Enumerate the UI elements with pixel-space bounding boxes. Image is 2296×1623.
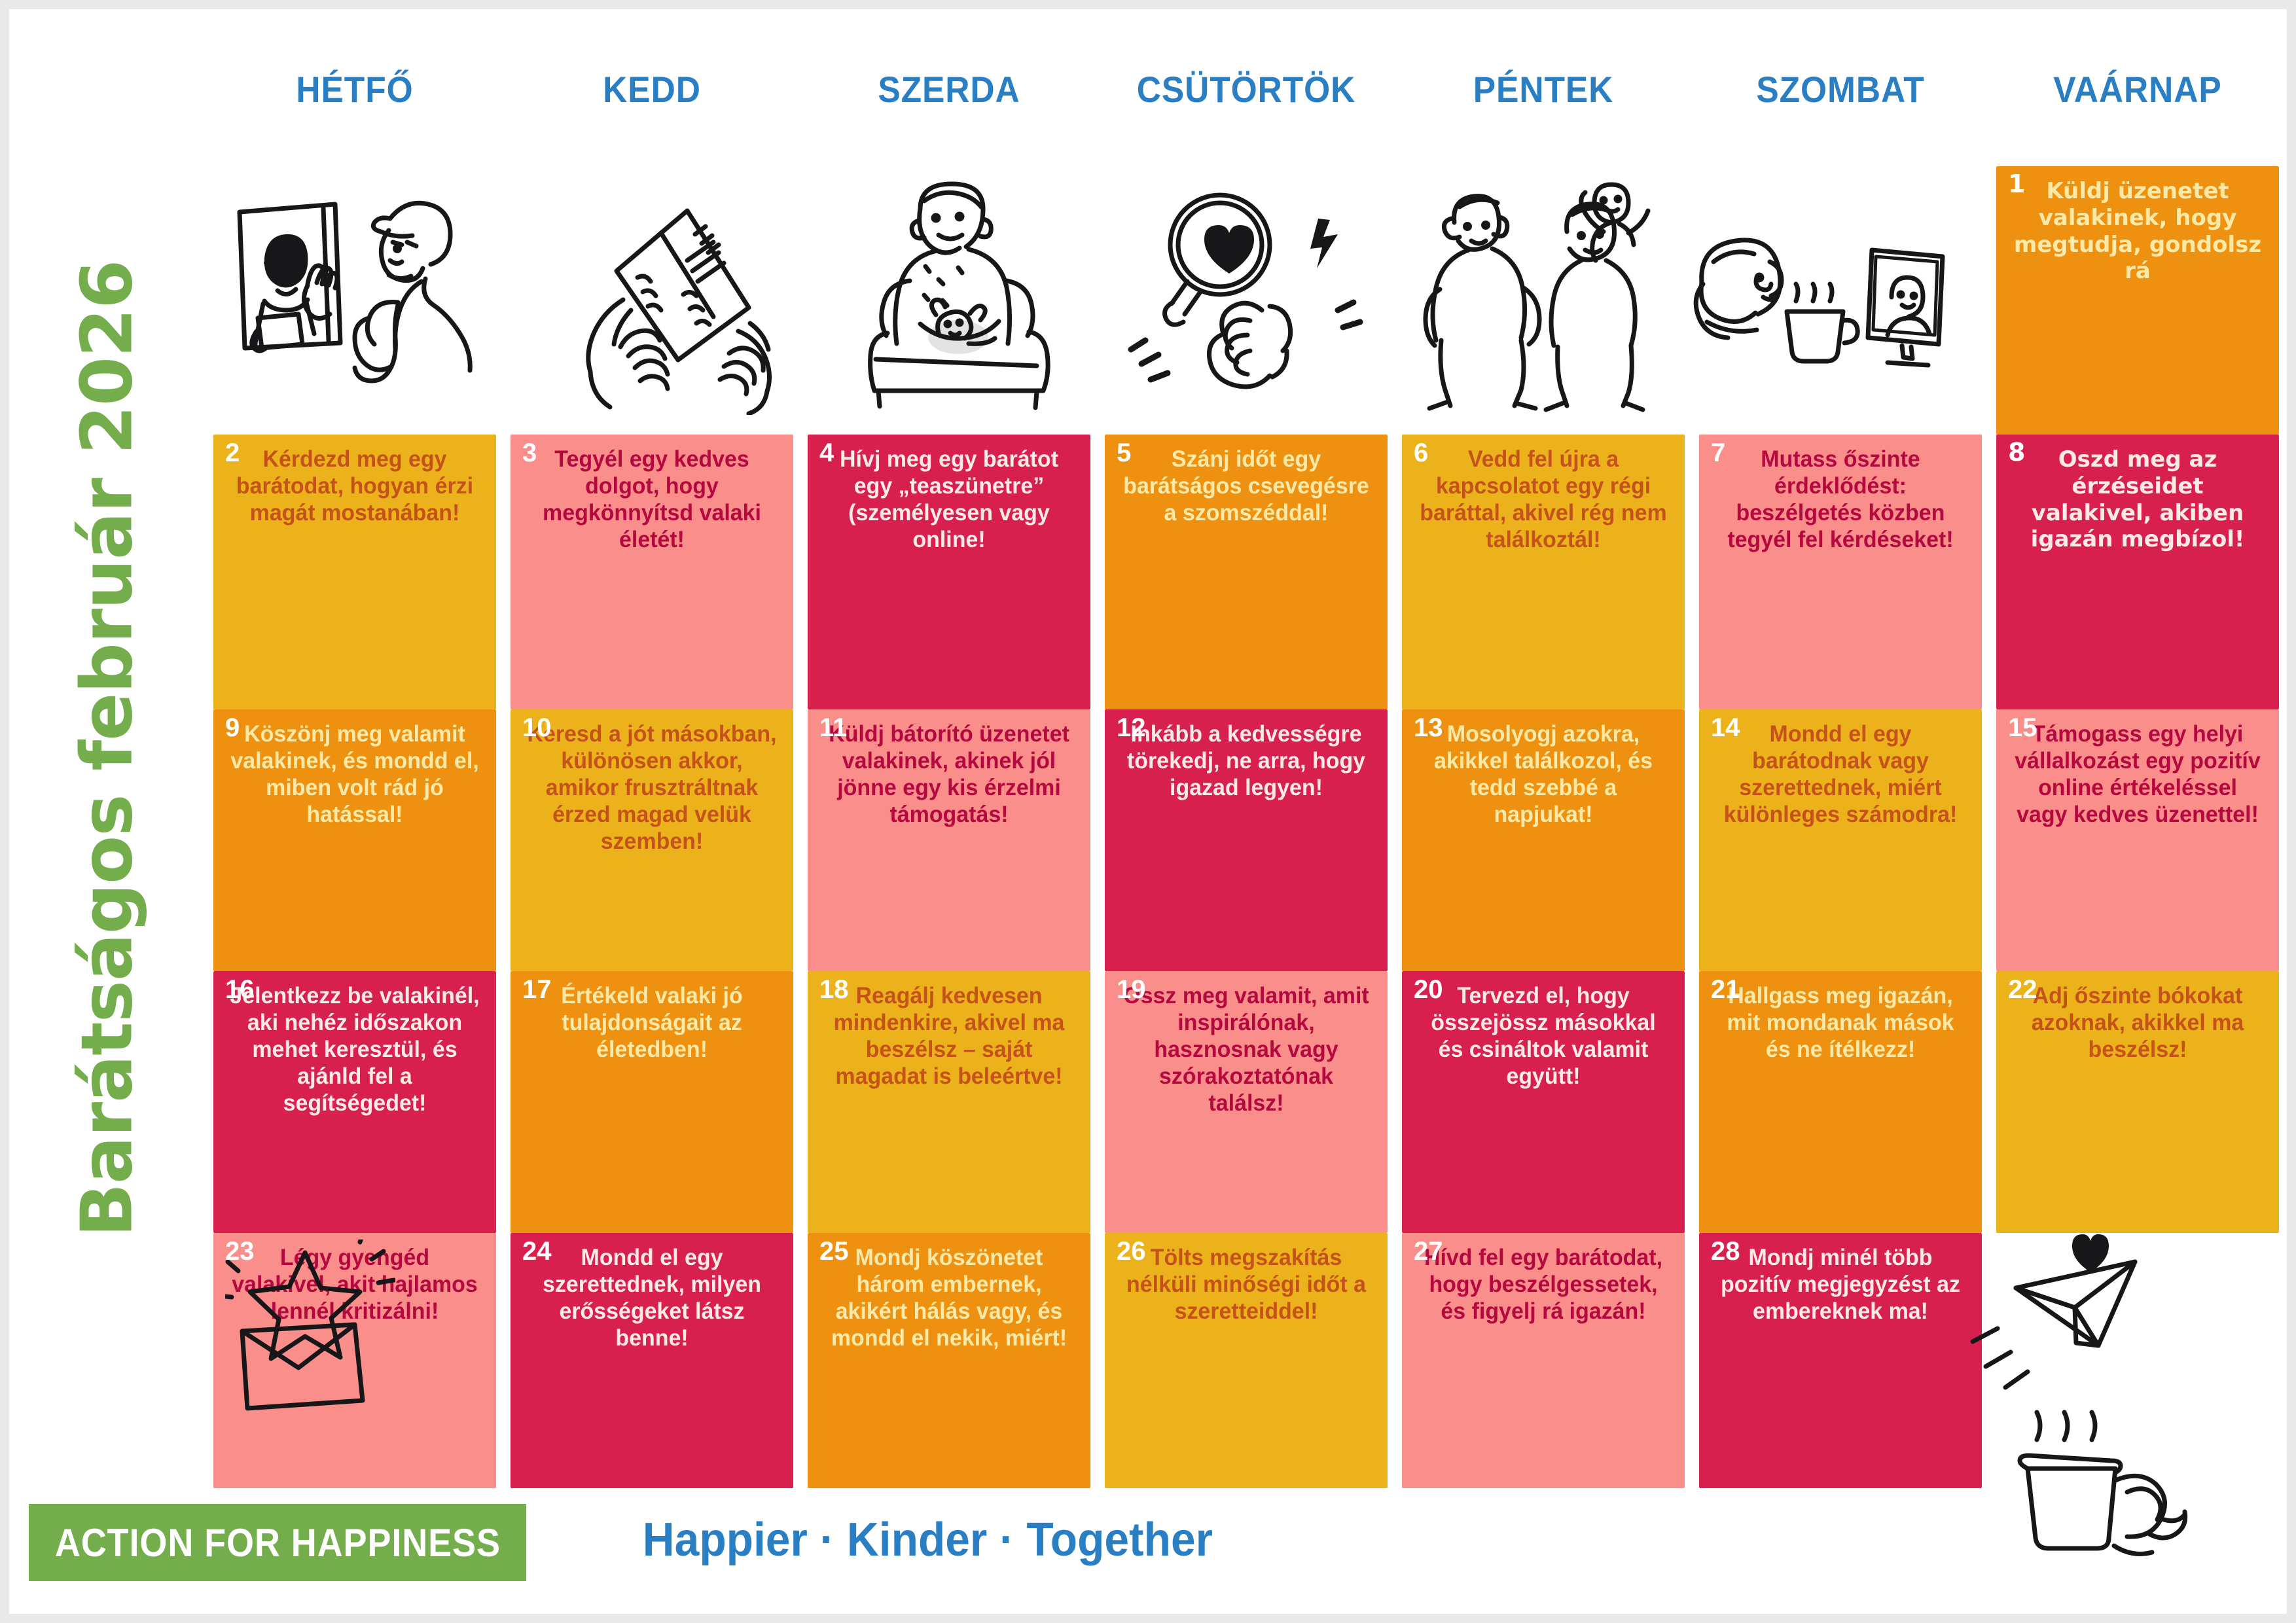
day-action-text: Hallgass meg igazán, mit mondanak mások … <box>1713 983 1967 1063</box>
man-in-armchair-with-dog-illustration <box>808 166 1090 435</box>
day-header-sunday: VAÁRNAP <box>2007 68 2267 111</box>
calendar-day-cell[interactable]: 17Értékeld valaki jó tulajdonságait az é… <box>511 971 793 1233</box>
day-action-text: Küldj üzenetet valakinek, hogy megtudja,… <box>2007 178 2269 285</box>
calendar-day-cell[interactable]: 9Köszönj meg valamit valakinek, és mondd… <box>213 709 496 971</box>
day-action-text: Tölts megszakítás nélküli minőségi időt … <box>1119 1245 1373 1325</box>
day-number: 27 <box>1414 1238 1443 1264</box>
day-action-text: Ossz meg valamit, amit inspirálónak, has… <box>1119 983 1373 1117</box>
day-action-text: Hívj meg egy barátot egy „teaszünetre” (… <box>822 446 1076 554</box>
calendar-day-cell[interactable]: 2Kérdezd meg egy barátodat, hogyan érzi … <box>213 435 496 709</box>
video-call-with-tea-illustration <box>1699 166 1982 435</box>
day-action-text: Mosolyogj azokra, akikkel találkozol, és… <box>1416 721 1670 829</box>
day-action-text: Hívd fel egy barátodat, hogy beszélgesse… <box>1416 1245 1670 1325</box>
page-title: Barátságos február 2026 <box>67 260 149 1238</box>
day-header-friday: PÉNTEK <box>1413 68 1673 111</box>
family-walking-illustration <box>1402 166 1685 435</box>
calendar-day-cell[interactable]: 5Szánj időt egy barátságos csevegésre a … <box>1105 435 1388 709</box>
day-number: 14 <box>1711 715 1740 741</box>
day-header-saturday: SZOMBAT <box>1710 68 1970 111</box>
day-number: 25 <box>819 1238 849 1264</box>
day-action-text: Légy gyengéd valakivel, akit hajlamos le… <box>228 1245 482 1325</box>
calendar-day-cell[interactable]: 15Támogass egy helyi vállalkozást egy po… <box>1996 709 2279 971</box>
day-action-text: Inkább a kedvességre törekedj, ne arra, … <box>1119 721 1373 802</box>
calendar-day-cell[interactable]: 22Adj őszinte bókokat azoknak, akikkel m… <box>1996 971 2279 1233</box>
calendar-poster: Barátságos február 2026 HÉTFŐ KEDD SZERD… <box>9 9 2287 1614</box>
paper-plane-with-heart-illustration <box>1996 1233 2279 1488</box>
calendar-day-cell[interactable]: 23Légy gyengéd valakivel, akit hajlamos … <box>213 1233 496 1488</box>
calendar-week-row: 23Légy gyengéd valakivel, akit hajlamos … <box>206 1233 2287 1488</box>
calendar-day-cell[interactable]: 24Mondd el egy szerettednek, milyen erős… <box>511 1233 793 1488</box>
calendar-day-cell[interactable]: 10Keresd a jót másokban, különösen akkor… <box>511 709 793 971</box>
calendar-day-cell[interactable]: 18Reagálj kedvesen mindenkire, akivel ma… <box>808 971 1090 1233</box>
day-number: 22 <box>2008 976 2037 1003</box>
tagline: Happier · Kinder · Together <box>643 1513 1213 1567</box>
day-action-text: Vedd fel újra a kapcsolatot egy régi bar… <box>1416 446 1670 554</box>
day-number: 5 <box>1117 440 1131 466</box>
day-header-row: HÉTFŐ KEDD SZERDA CSÜTÖRTÖK PÉNTEK SZOMB… <box>206 68 2287 111</box>
calendar-day-cell[interactable]: 20Tervezd el, hogy összejössz másokkal é… <box>1402 971 1685 1233</box>
calendar-day-cell[interactable]: 16Jelentkezz be valakinél, aki nehéz idő… <box>213 971 496 1233</box>
day-action-text: Értékeld valaki jó tulajdonságait az éle… <box>525 983 779 1063</box>
day-number: 12 <box>1117 715 1146 741</box>
day-number: 13 <box>1414 715 1443 741</box>
calendar-day-cell[interactable]: 26Tölts megszakítás nélküli minőségi idő… <box>1105 1233 1388 1488</box>
hands-holding-letter-illustration <box>511 166 793 435</box>
day-action-text: Mondj köszönetet három embernek, akikért… <box>822 1245 1076 1352</box>
day-action-text: Mondj minél több pozitív megjegyzést az … <box>1713 1245 1967 1325</box>
day-number: 24 <box>522 1238 552 1264</box>
day-number: 4 <box>819 440 834 466</box>
day-action-text: Mutass őszinte érdeklődést: beszélgetés … <box>1713 446 1967 554</box>
day-action-text: Mondd el egy szerettednek, milyen erőssé… <box>525 1245 779 1352</box>
day-number: 18 <box>819 976 849 1003</box>
day-action-text: Oszd meg az érzéseidet valakivel, akiben… <box>2007 446 2269 553</box>
day-action-text: Támogass egy helyi vállalkozást egy pozi… <box>2011 721 2265 829</box>
day-action-text: Jelentkezz be valakinél, aki nehéz idősz… <box>228 983 482 1117</box>
day-number: 21 <box>1711 976 1740 1003</box>
calendar-day-cell[interactable]: 21Hallgass meg igazán, mit mondanak máso… <box>1699 971 1982 1233</box>
day-header-tuesday: KEDD <box>522 68 781 111</box>
day-number: 6 <box>1414 440 1428 466</box>
day-number: 16 <box>225 976 255 1003</box>
calendar-day-cell[interactable]: 8Oszd meg az érzéseidet valakivel, akibe… <box>1996 435 2279 709</box>
magnifying-glass-heart-illustration <box>1105 166 1388 435</box>
day-number: 28 <box>1711 1238 1740 1264</box>
day-number: 7 <box>1711 440 1725 466</box>
calendar-day-cell[interactable]: 12Inkább a kedvességre törekedj, ne arra… <box>1105 709 1388 971</box>
calendar-day-cell[interactable]: 13Mosolyogj azokra, akikkel találkozol, … <box>1402 709 1685 971</box>
day-number: 15 <box>2008 715 2037 741</box>
day-header-monday: HÉTFŐ <box>224 68 484 111</box>
day-number: 1 <box>2008 171 2025 196</box>
calendar-day-cell[interactable]: 7Mutass őszinte érdeklődést: beszélgetés… <box>1699 435 1982 709</box>
day-action-text: Kérdezd meg egy barátodat, hogyan érzi m… <box>228 446 482 527</box>
day-number: 11 <box>819 715 847 741</box>
calendar-day-cell[interactable]: 3Tegyél egy kedves dolgot, hogy megkönny… <box>511 435 793 709</box>
day-action-text: Adj őszinte bókokat azoknak, akikkel ma … <box>2011 983 2265 1063</box>
day-header-wednesday: SZERDA <box>819 68 1079 111</box>
day-action-text: Küldj bátorító üzenetet valakinek, akine… <box>822 721 1076 829</box>
title-rail: Barátságos február 2026 <box>9 9 206 1488</box>
calendar-day-cell[interactable]: 11Küldj bátorító üzenetet valakinek, aki… <box>808 709 1090 971</box>
day-action-text: Keresd a jót másokban, különösen akkor, … <box>525 721 779 855</box>
footer: ACTION FOR HAPPINESS Happier · Kinder · … <box>9 1489 2287 1614</box>
calendar-day-cell[interactable]: 19Ossz meg valamit, amit inspirálónak, h… <box>1105 971 1388 1233</box>
day-action-text: Tervezd el, hogy összejössz másokkal és … <box>1416 983 1670 1090</box>
calendar-day-cell[interactable]: 6Vedd fel újra a kapcsolatot egy régi ba… <box>1402 435 1685 709</box>
neighbour-at-window-illustration <box>213 166 496 435</box>
calendar-day-cell[interactable]: 1Küldj üzenetet valakinek, hogy megtudja… <box>1996 166 2279 435</box>
day-number: 8 <box>2008 440 2025 465</box>
day-action-text: Mondd el egy barátodnak vagy szerettedne… <box>1713 721 1967 829</box>
day-number: 17 <box>522 976 552 1003</box>
day-number: 10 <box>522 715 552 741</box>
day-header-thursday: CSÜTÖRTÖK <box>1116 68 1376 111</box>
day-action-text: Szánj időt egy barátságos csevegésre a s… <box>1119 446 1373 527</box>
day-action-text: Köszönj meg valamit valakinek, és mondd … <box>228 721 482 829</box>
day-number: 23 <box>225 1238 255 1264</box>
day-number: 20 <box>1414 976 1443 1003</box>
day-action-text: Tegyél egy kedves dolgot, hogy megkönnyí… <box>525 446 779 554</box>
day-number: 26 <box>1117 1238 1146 1264</box>
calendar-week-row: 16Jelentkezz be valakinél, aki nehéz idő… <box>206 971 2287 1233</box>
calendar-day-cell[interactable]: 25Mondj köszönetet három embernek, akiké… <box>808 1233 1090 1488</box>
day-number: 2 <box>225 440 240 466</box>
day-number: 3 <box>522 440 537 466</box>
calendar-week-row: 2Kérdezd meg egy barátodat, hogyan érzi … <box>206 435 2287 709</box>
calendar-day-cell[interactable]: 28Mondj minél több pozitív megjegyzést a… <box>1699 1233 1982 1488</box>
day-number: 19 <box>1117 976 1146 1003</box>
calendar-day-cell[interactable]: 27Hívd fel egy barátodat, hogy beszélges… <box>1402 1233 1685 1488</box>
day-number: 9 <box>225 715 240 741</box>
calendar-day-cell[interactable]: 14Mondd el egy barátodnak vagy szeretted… <box>1699 709 1982 971</box>
calendar-day-cell[interactable]: 4Hívj meg egy barátot egy „teaszünetre” … <box>808 435 1090 709</box>
logo-label: ACTION FOR HAPPINESS <box>54 1520 500 1565</box>
calendar-grid: HÉTFŐ KEDD SZERDA CSÜTÖRTÖK PÉNTEK SZOMB… <box>206 9 2287 1488</box>
day-action-text: Reagálj kedvesen mindenkire, akivel ma b… <box>822 983 1076 1090</box>
calendar-week-row: 9Köszönj meg valamit valakinek, és mondd… <box>206 709 2287 971</box>
calendar-week-row: 1Küldj üzenetet valakinek, hogy megtudja… <box>206 166 2287 435</box>
action-for-happiness-logo[interactable]: ACTION FOR HAPPINESS <box>29 1504 526 1581</box>
